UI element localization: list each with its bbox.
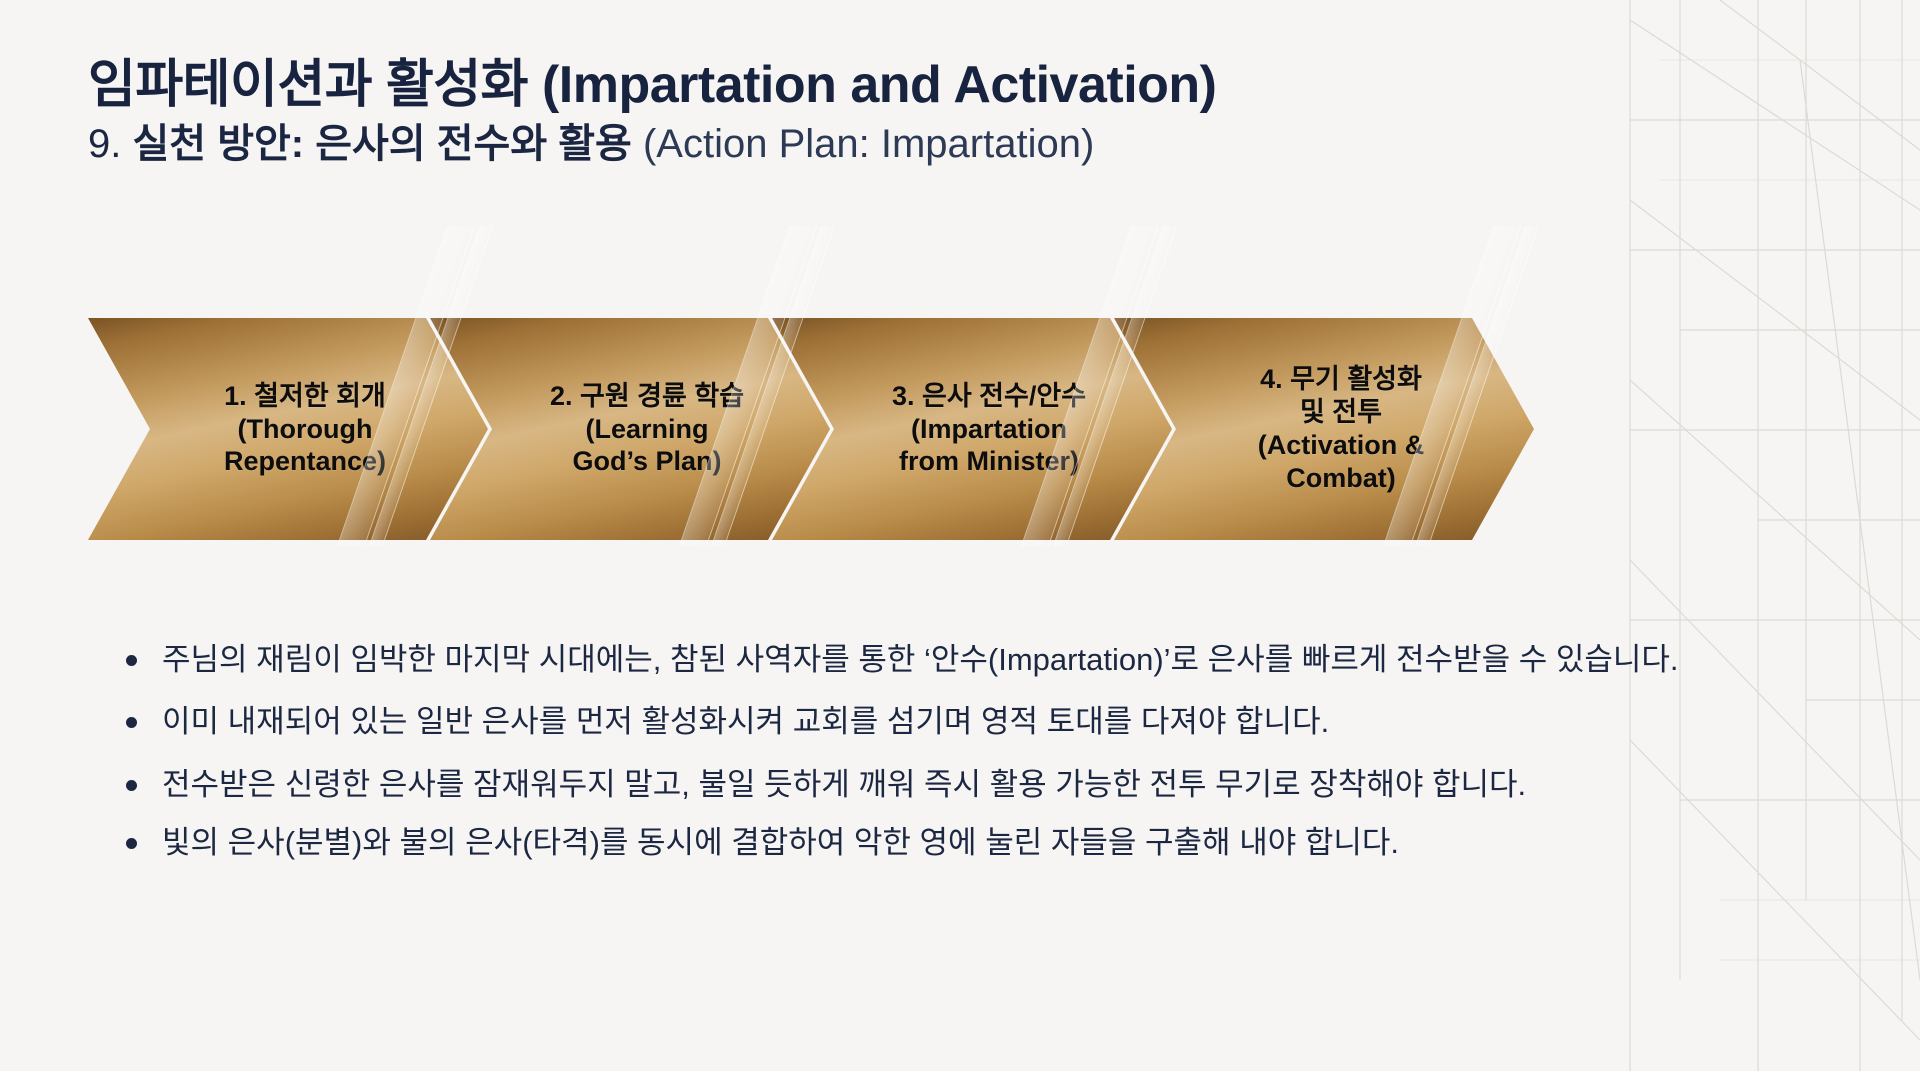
process-step-2[interactable]: 2. 구원 경륜 학습 (Learning God’s Plan) — [430, 318, 830, 540]
process-step-2-en2: God’s Plan) — [550, 445, 744, 478]
process-step-4-en1: (Activation & — [1258, 429, 1425, 462]
process-step-3-label: 3. 은사 전수/안수 (Impartation from Minister) — [858, 380, 1086, 479]
subtitle-number: 9. — [88, 122, 132, 166]
process-step-1-en1: (Thorough — [224, 413, 386, 446]
process-step-4-en2: Combat) — [1258, 462, 1425, 495]
list-item: 이미 내재되어 있는 일반 은사를 먼저 활성화시켜 교회를 섬기며 영적 토대… — [118, 702, 1818, 742]
bullet-text: 전수받은 신령한 은사를 잠재워두지 말고, 불일 듯하게 깨워 즉시 활용 가… — [162, 767, 1526, 802]
page-title: 임파테이션과 활성화 (Impartation and Activation) — [88, 56, 1217, 114]
bullet-dot-icon — [126, 780, 137, 791]
subtitle-korean: 실천 방안: 은사의 전수와 활용 — [132, 122, 631, 166]
slide-root: 임파테이션과 활성화 (Impartation and Activation) … — [0, 0, 1920, 1071]
title-block: 임파테이션과 활성화 (Impartation and Activation) … — [88, 56, 1217, 168]
bullet-text: 빛의 은사(분별)와 불의 은사(타격)를 동시에 결합하여 악한 영에 눌린 … — [162, 825, 1399, 860]
process-step-1-label: 1. 철저한 회개 (Thorough Repentance) — [190, 380, 386, 479]
bullet-text: 주님의 재림이 임박한 마지막 시대에는, 참된 사역자를 통한 ‘안수(Imp… — [162, 642, 1679, 677]
process-step-4-ko: 4. 무기 활성화 — [1258, 363, 1425, 396]
bullet-text: 이미 내재되어 있는 일반 은사를 먼저 활성화시켜 교회를 섬기며 영적 토대… — [162, 704, 1329, 739]
list-item: 주님의 재림이 임박한 마지막 시대에는, 참된 사역자를 통한 ‘안수(Imp… — [118, 640, 1818, 680]
list-item: 빛의 은사(분별)와 불의 은사(타격)를 동시에 결합하여 악한 영에 눌린 … — [118, 823, 1818, 863]
process-step-3-ko: 3. 은사 전수/안수 — [892, 380, 1086, 413]
bullet-dot-icon — [126, 655, 137, 666]
process-step-1-ko: 1. 철저한 회개 — [224, 380, 386, 413]
process-step-3[interactable]: 3. 은사 전수/안수 (Impartation from Minister) — [772, 318, 1172, 540]
bullet-dot-icon — [126, 717, 137, 728]
process-step-1[interactable]: 1. 철저한 회개 (Thorough Repentance) — [88, 318, 488, 540]
process-step-3-en2: from Minister) — [892, 445, 1086, 478]
process-step-2-label: 2. 구원 경륜 학습 (Learning God’s Plan) — [516, 380, 744, 479]
list-item: 전수받은 신령한 은사를 잠재워두지 말고, 불일 듯하게 깨워 즉시 활용 가… — [118, 765, 1818, 805]
process-step-4-label: 4. 무기 활성화 및 전투 (Activation & Combat) — [1224, 363, 1425, 495]
process-chevron-row: 1. 철저한 회개 (Thorough Repentance) 2. 구원 경륜… — [0, 272, 1920, 582]
process-step-4-ko2: 및 전투 — [1258, 396, 1425, 429]
process-step-3-en1: (Impartation — [892, 413, 1086, 446]
process-step-2-ko: 2. 구원 경륜 학습 — [550, 380, 744, 413]
process-step-4[interactable]: 4. 무기 활성화 및 전투 (Activation & Combat) — [1114, 318, 1534, 540]
process-step-1-en2: Repentance) — [224, 445, 386, 478]
bullet-dot-icon — [126, 838, 137, 849]
process-step-2-en1: (Learning — [550, 413, 744, 446]
bullet-list: 주님의 재림이 임박한 마지막 시대에는, 참된 사역자를 통한 ‘안수(Imp… — [118, 640, 1818, 881]
subtitle-english: (Action Plan: Impartation) — [632, 122, 1094, 166]
page-subtitle: 9. 실천 방안: 은사의 전수와 활용 (Action Plan: Impar… — [88, 120, 1217, 168]
